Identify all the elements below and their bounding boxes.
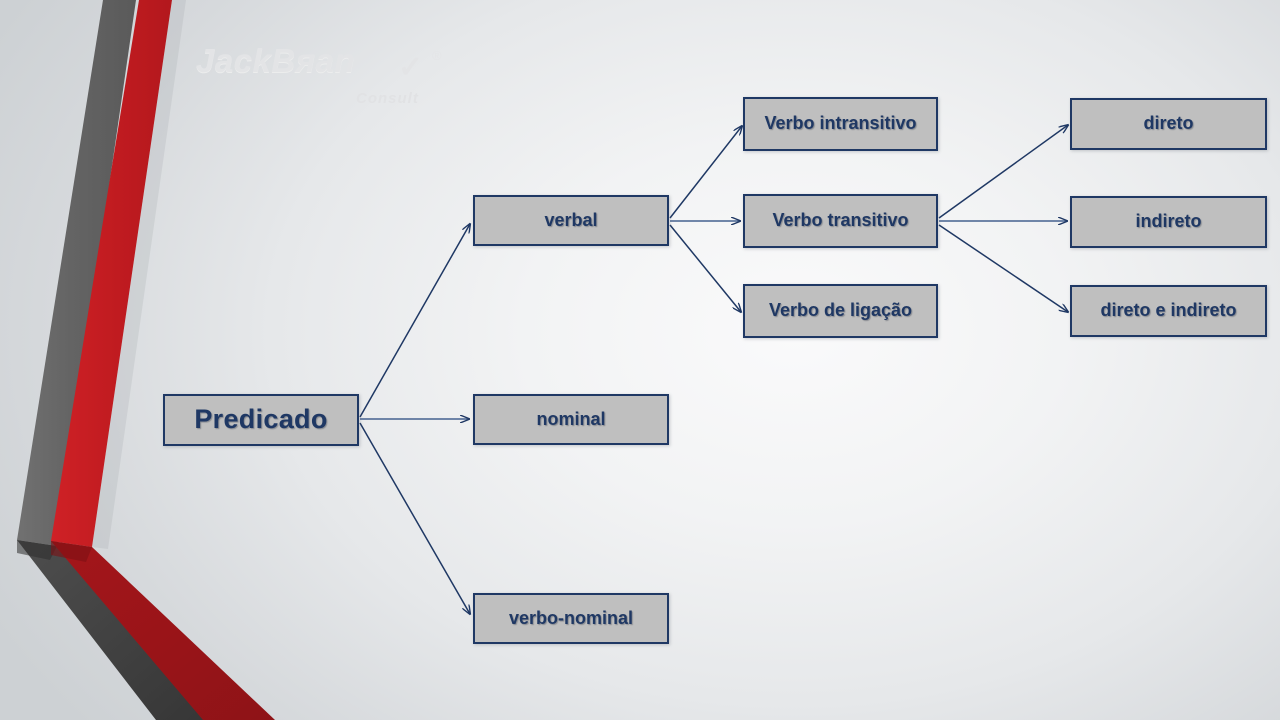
node-label: indireto [1136,212,1202,232]
node-verbo-transitivo[interactable]: Verbo transitivo [743,194,938,248]
node-verbal[interactable]: verbal [473,195,669,246]
check-icon: ✓ [398,50,423,85]
node-label: nominal [536,410,605,430]
node-label: direto e indireto [1100,301,1236,321]
node-direto-e-indireto[interactable]: direto e indireto [1070,285,1267,337]
node-label: Verbo intransitivo [764,114,916,134]
grey-band-bevel [17,540,57,560]
grey-band-lower [17,540,226,720]
node-label: direto [1143,114,1193,134]
node-indireto[interactable]: indireto [1070,196,1267,248]
slide-canvas: JackBяan ✓ ® Consult Predicado [0,0,1280,720]
band-shadow [92,0,186,549]
edge-predicado-verbo-nominal [360,423,470,614]
edge-verbal-intransitivo [670,126,742,218]
red-band-lower [51,541,275,720]
node-verbo-de-ligacao[interactable]: Verbo de ligação [743,284,938,338]
edge-verbal-ligacao [670,225,741,312]
node-direto[interactable]: direto [1070,98,1267,150]
node-label: Verbo de ligação [769,301,912,321]
node-label: verbal [544,211,597,231]
node-label: verbo-nominal [509,609,633,629]
edge-transitivo-direto-indireto [939,225,1068,312]
watermark-subtitle: Consult [356,90,419,107]
watermark: JackBяan ✓ ® Consult [196,42,466,120]
node-predicado[interactable]: Predicado [163,394,359,446]
watermark-brand: JackBяan [196,42,355,80]
red-band-upper [51,0,172,547]
edge-predicado-verbal [360,224,470,417]
edge-transitivo-direto [939,125,1068,218]
node-verbo-nominal[interactable]: verbo-nominal [473,593,669,644]
grey-band-upper [17,0,136,546]
red-band-bevel [51,541,92,562]
node-label: Verbo transitivo [772,211,908,231]
registered-icon: ® [432,48,442,63]
node-verbo-intransitivo[interactable]: Verbo intransitivo [743,97,938,151]
node-nominal[interactable]: nominal [473,394,669,445]
node-label: Predicado [194,405,327,435]
